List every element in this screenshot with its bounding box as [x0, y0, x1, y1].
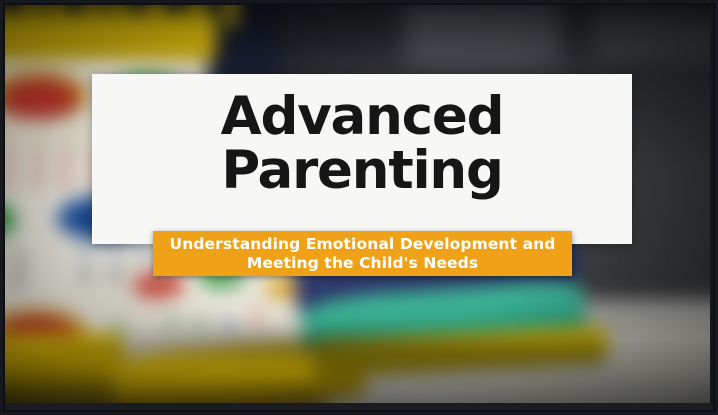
rain-boot-left-cuff: [4, 11, 216, 59]
boot-shadow: [43, 323, 593, 371]
subtitle-banner: Understanding Emotional Development and …: [153, 231, 572, 276]
title-line-2: Parenting: [92, 144, 632, 198]
subtitle-text: Understanding Emotional Development and …: [153, 235, 572, 273]
background-shelf-highlight-secondary: [593, 6, 710, 59]
presentation-slide: Advanced Parenting Understanding Emotion…: [0, 0, 718, 415]
page-title: Advanced Parenting: [92, 90, 632, 198]
background-shelf-highlight: [404, 3, 561, 64]
title-card: Advanced Parenting: [92, 74, 632, 244]
title-line-1: Advanced: [92, 90, 632, 144]
